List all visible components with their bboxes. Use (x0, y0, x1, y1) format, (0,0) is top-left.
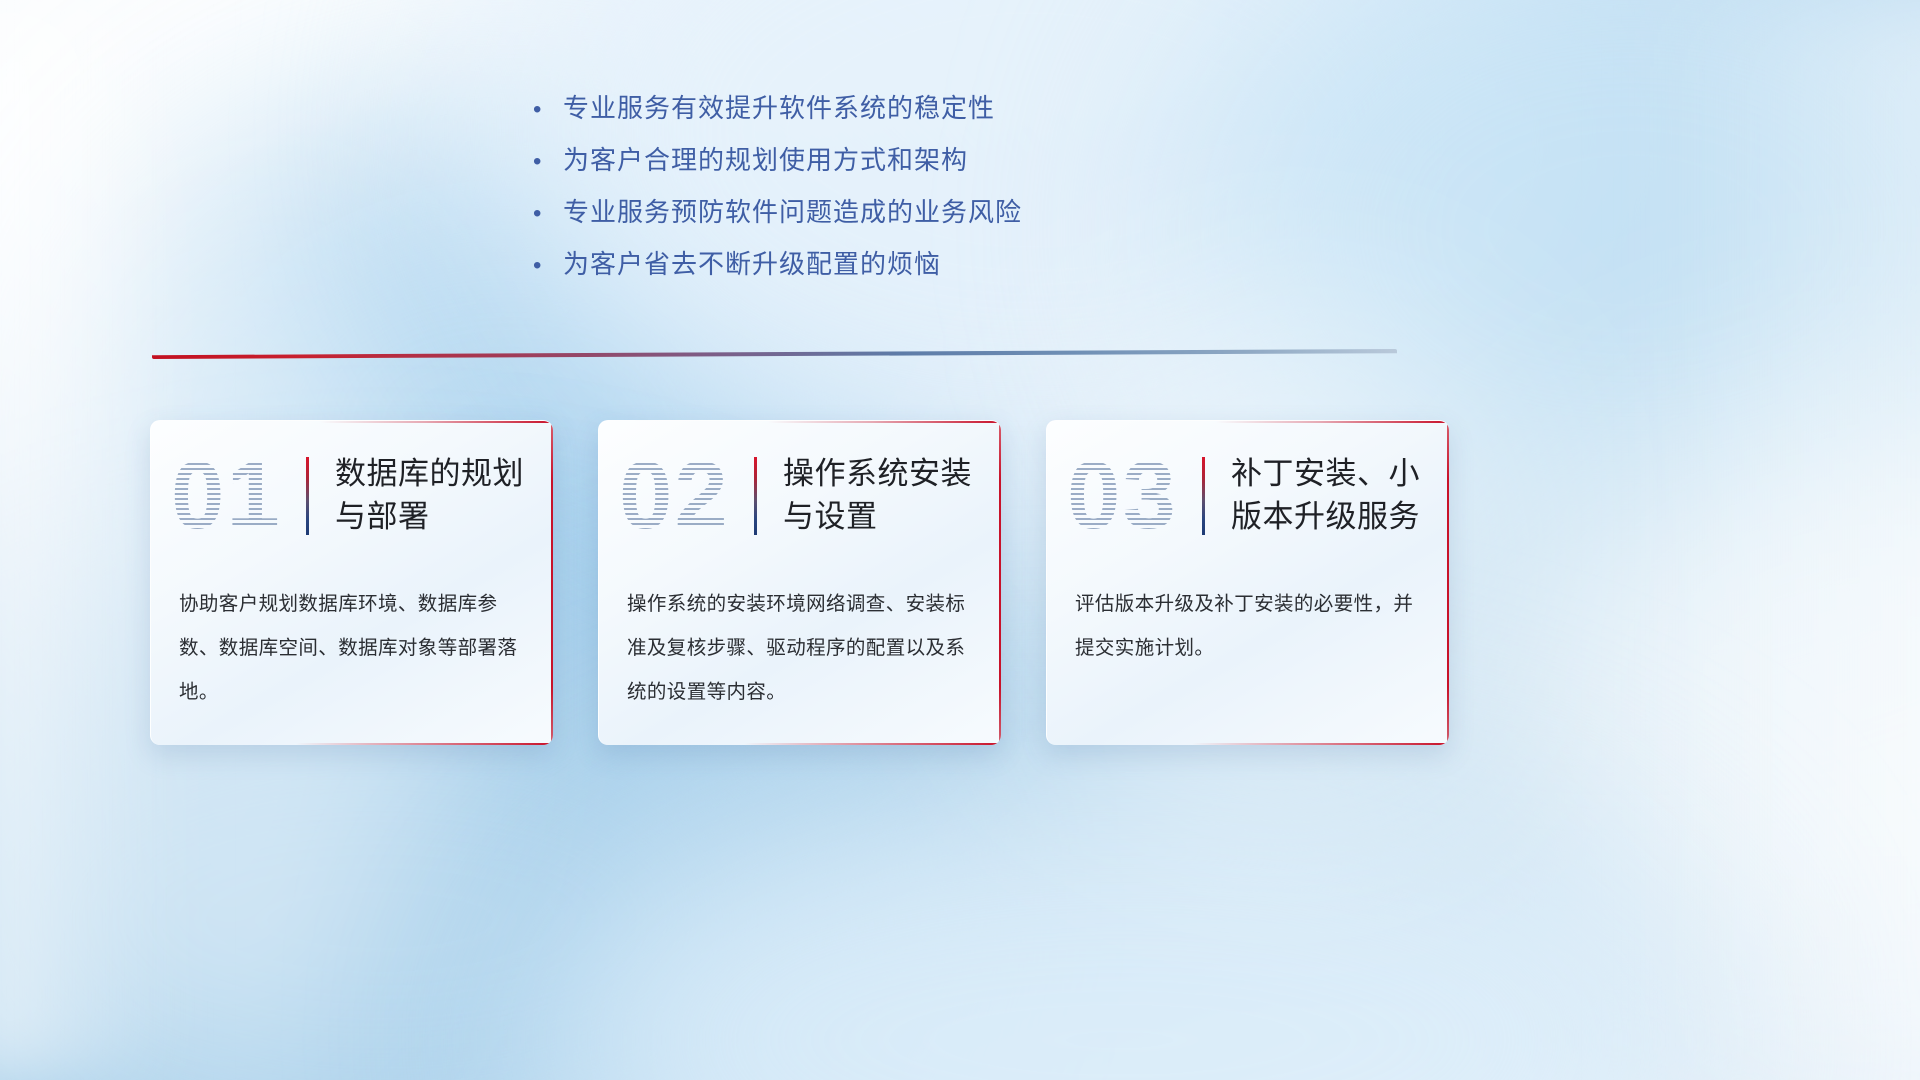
list-item: • 为客户合理的规划使用方式和架构 (533, 140, 1022, 192)
card-watermark-number: 02 (619, 448, 754, 544)
section-divider (152, 349, 1397, 359)
list-item-label: 为客户省去不断升级配置的烦恼 (563, 244, 941, 281)
list-item: • 为客户省去不断升级配置的烦恼 (533, 244, 1022, 296)
service-card-01[interactable]: 01 数据库的规划与部署 协助客户规划数据库环境、数据库参数、数据库空间、数据库… (150, 420, 553, 745)
card-description: 评估版本升级及补丁安装的必要性，并提交实施计划。 (1047, 583, 1449, 671)
card-divider-bar (306, 457, 309, 535)
card-divider-bar (1202, 457, 1205, 535)
list-item-label: 专业服务预防软件问题造成的业务风险 (563, 192, 1022, 229)
card-title: 操作系统安装与设置 (783, 453, 998, 539)
service-card-group: 01 数据库的规划与部署 协助客户规划数据库环境、数据库参数、数据库空间、数据库… (150, 420, 1450, 745)
card-header: 02 操作系统安装与设置 (599, 421, 1001, 571)
list-item-label: 专业服务有效提升软件系统的稳定性 (563, 88, 995, 125)
list-item-label: 为客户合理的规划使用方式和架构 (563, 140, 968, 177)
card-bottom-accent (744, 743, 1001, 745)
service-card-03[interactable]: 03 补丁安装、小版本升级服务 评估版本升级及补丁安装的必要性，并提交实施计划。 (1046, 420, 1449, 745)
bullet-dot-icon: • (533, 254, 563, 278)
card-description: 操作系统的安装环境网络调查、安装标准及复核步骤、驱动程序的配置以及系统的设置等内… (599, 583, 1001, 715)
card-bottom-accent (1192, 743, 1449, 745)
bullet-dot-icon: • (533, 150, 563, 174)
card-description: 协助客户规划数据库环境、数据库参数、数据库空间、数据库对象等部署落地。 (151, 583, 553, 715)
card-watermark-number: 01 (171, 448, 306, 544)
list-item: • 专业服务预防软件问题造成的业务风险 (533, 192, 1022, 244)
divider-gradient-line (152, 349, 1397, 359)
card-bottom-accent (296, 743, 553, 745)
card-header: 03 补丁安装、小版本升级服务 (1047, 421, 1449, 571)
card-divider-bar (754, 457, 757, 535)
benefits-bullet-list: • 专业服务有效提升软件系统的稳定性 • 为客户合理的规划使用方式和架构 • 专… (533, 88, 1022, 296)
service-card-02[interactable]: 02 操作系统安装与设置 操作系统的安装环境网络调查、安装标准及复核步骤、驱动程… (598, 420, 1001, 745)
bullet-dot-icon: • (533, 98, 563, 122)
card-title: 数据库的规划与部署 (335, 453, 550, 539)
bullet-dot-icon: • (533, 202, 563, 226)
card-watermark-number: 03 (1067, 448, 1202, 544)
background-light-streak-right (1640, 0, 1920, 1080)
card-title: 补丁安装、小版本升级服务 (1231, 453, 1446, 539)
card-header: 01 数据库的规划与部署 (151, 421, 553, 571)
list-item: • 专业服务有效提升软件系统的稳定性 (533, 88, 1022, 140)
